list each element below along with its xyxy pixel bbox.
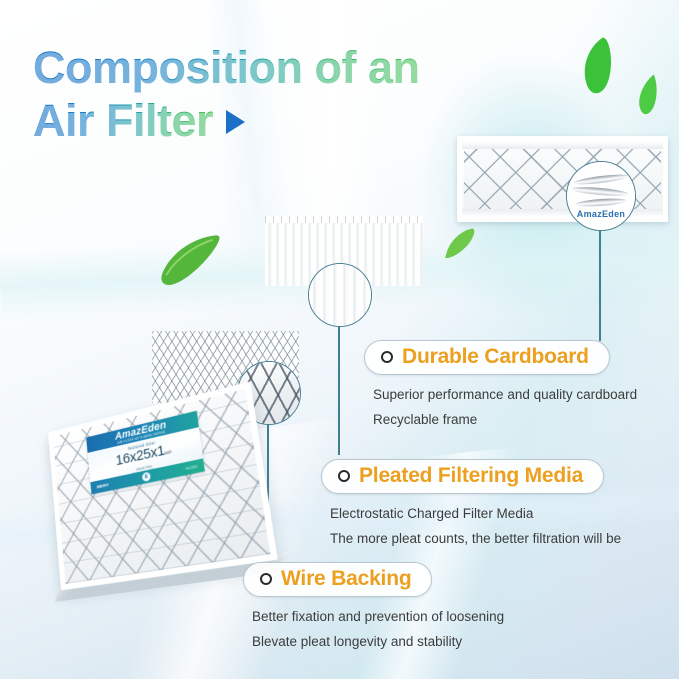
callout-title: Durable Cardboard — [402, 345, 589, 369]
callout-description: Superior performance and quality cardboa… — [364, 382, 637, 432]
magnifier-brand-label: AmazEden — [567, 209, 635, 219]
leaf-icon — [576, 36, 616, 98]
connector-line-cardboard — [599, 229, 601, 341]
title-line-2: Air Filter — [33, 94, 213, 147]
callout-line: Electrostatic Charged Filter Media — [330, 501, 621, 526]
merv-label: MERV — [97, 482, 109, 489]
callout-durable-cardboard: Durable Cardboard Superior performance a… — [364, 340, 637, 432]
merv-value: 8 — [142, 472, 151, 482]
bullet-dot-icon — [338, 470, 350, 482]
leaf-icon — [156, 222, 228, 297]
callout-pill-durable-cardboard[interactable]: Durable Cardboard — [364, 340, 610, 375]
callout-title: Pleated Filtering Media — [359, 464, 583, 488]
callout-wire-backing: Wire Backing Better fixation and prevent… — [243, 562, 504, 654]
callout-description: Electrostatic Charged Filter Media The m… — [321, 501, 621, 551]
callout-line: Better fixation and prevention of loosen… — [252, 604, 504, 629]
title-line-1: Composition of an — [33, 41, 419, 94]
callout-line: The more pleat counts, the better filtra… — [330, 526, 621, 551]
magnifier-cardboard: AmazEden — [566, 161, 636, 231]
infographic-canvas: Composition of an Air Filter AmazEden — [0, 0, 679, 679]
callout-pleated-filtering-media: Pleated Filtering Media Electrostatic Ch… — [321, 459, 621, 551]
bullet-dot-icon — [260, 573, 272, 585]
connector-line-pleated-media — [338, 325, 340, 455]
callout-line: Blevate pleat longevity and stability — [252, 629, 504, 654]
leaf-icon — [633, 74, 661, 116]
callout-description: Better fixation and prevention of loosen… — [243, 604, 504, 654]
product-filter-image: AmazEden AIR FILTER WITH MERV RATING Nom… — [38, 404, 266, 576]
bullet-dot-icon — [381, 351, 393, 363]
callout-pill-pleated-filtering-media[interactable]: Pleated Filtering Media — [321, 459, 604, 494]
magnifier-pleated-media — [308, 263, 372, 327]
page-title: Composition of an Air Filter — [33, 41, 419, 147]
merv-right-label: FILTER — [185, 464, 197, 470]
cardboard-frame-filter-image — [457, 136, 668, 222]
leaf-icon — [436, 225, 483, 265]
callout-pill-wire-backing[interactable]: Wire Backing — [243, 562, 432, 597]
play-triangle-icon — [226, 110, 245, 134]
callout-line: Superior performance and quality cardboa… — [373, 382, 637, 407]
callout-line: Recyclable frame — [373, 407, 637, 432]
callout-title: Wire Backing — [281, 567, 411, 591]
